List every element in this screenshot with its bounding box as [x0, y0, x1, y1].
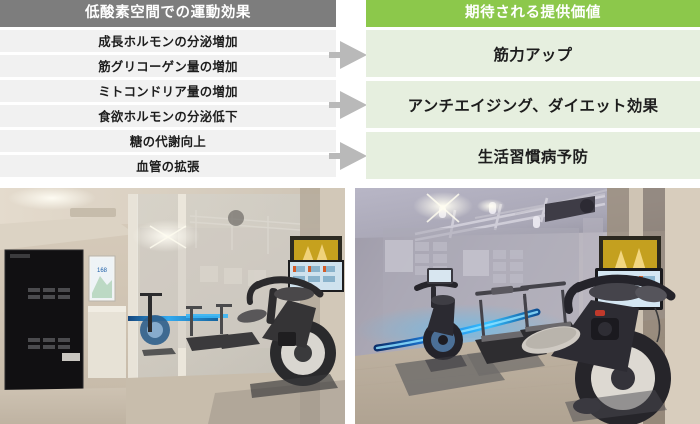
effects-column-header: 低酸素空間での運動効果 — [0, 0, 336, 27]
value-row: 生活習慣病予防 — [366, 132, 700, 179]
photo-strip: 168 — [0, 188, 700, 424]
right-arrow-icon — [329, 91, 367, 119]
hypoxic-room-exterior-photo: 168 — [0, 188, 345, 424]
effect-row: 血管の拡張 — [0, 155, 336, 177]
effects-row-list: 成長ホルモンの分泌増加 筋グリコーゲン量の増加 ミトコンドリア量の増加 食欲ホル… — [0, 30, 336, 177]
effect-row: 食欲ホルモンの分泌低下 — [0, 105, 336, 127]
value-column: 期待される提供価値 筋力アップ アンチエイジング、ダイエット効果 生活習慣病予防 — [366, 0, 700, 183]
value-row: 筋力アップ — [366, 30, 700, 77]
effects-column: 低酸素空間での運動効果 成長ホルモンの分泌増加 筋グリコーゲン量の増加 ミトコン… — [0, 0, 336, 180]
right-arrow-icon — [329, 142, 367, 170]
effect-row: 筋グリコーゲン量の増加 — [0, 55, 336, 77]
value-column-header: 期待される提供価値 — [366, 0, 700, 27]
infographic-root: 低酸素空間での運動効果 成長ホルモンの分泌増加 筋グリコーゲン量の増加 ミトコン… — [0, 0, 700, 424]
value-row-list: 筋力アップ アンチエイジング、ダイエット効果 生活習慣病予防 — [366, 30, 700, 179]
effect-row: 成長ホルモンの分泌増加 — [0, 30, 336, 52]
right-arrow-icon — [329, 41, 367, 69]
hypoxic-room-exterior-graphic: 168 — [0, 188, 345, 424]
effect-row: 糖の代謝向上 — [0, 130, 336, 152]
svg-text:168: 168 — [97, 268, 108, 274]
value-row: アンチエイジング、ダイエット効果 — [366, 81, 700, 128]
hypoxic-room-interior-graphic — [355, 188, 700, 424]
effect-row: ミトコンドリア量の増加 — [0, 80, 336, 102]
hypoxic-room-interior-photo — [355, 188, 700, 424]
benefits-table: 低酸素空間での運動効果 成長ホルモンの分泌増加 筋グリコーゲン量の増加 ミトコン… — [0, 0, 700, 186]
